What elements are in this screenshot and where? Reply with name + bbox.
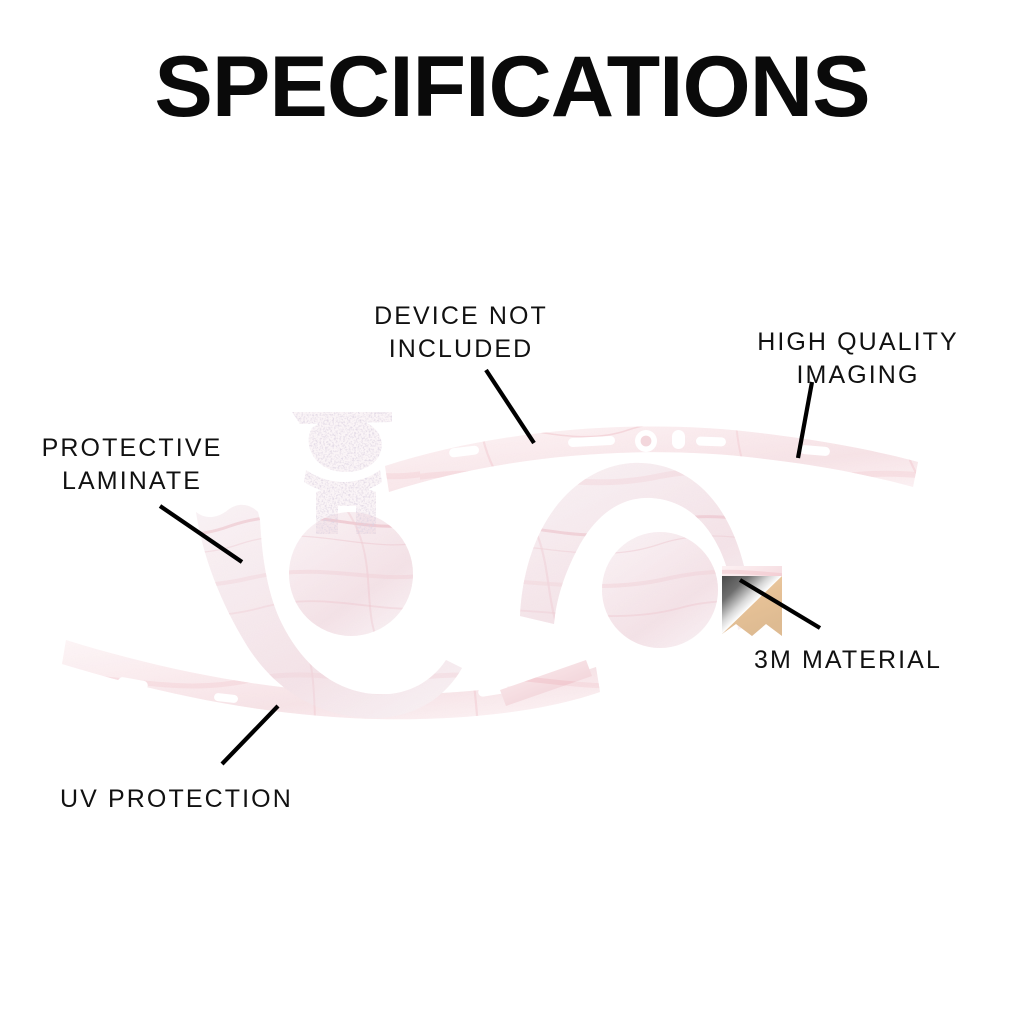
part-peel-corner-3m [718, 560, 788, 644]
part-small-strip [494, 650, 604, 714]
leader-line-high-quality-imaging [798, 382, 812, 458]
part-headband-strip-top [370, 410, 940, 510]
part-earcup-circle-right [598, 528, 726, 656]
leader-line-protective-laminate [160, 506, 242, 562]
leader-line-uv-protection [222, 706, 278, 764]
part-earcup-circle-left [285, 508, 420, 643]
callout-protective-laminate: PROTECTIVE LAMINATE [10, 432, 254, 498]
part-earcup-arc-right [505, 450, 775, 650]
part-earcup-arc-left [180, 490, 480, 740]
part-glitter-accent-bottom [608, 618, 728, 758]
laminate-foil [722, 576, 782, 634]
callout-3m-material: 3M MATERIAL [754, 644, 1004, 677]
adhesive-backing [722, 576, 782, 636]
cutouts-top-strip [449, 430, 831, 458]
product-artwork [0, 0, 1024, 1024]
part-headband-strip-bottom [50, 630, 620, 730]
leader-line-device-not-included [486, 370, 534, 443]
cutouts-bottom-strip [117, 676, 508, 711]
callout-device-not-included: DEVICE NOT INCLUDED [336, 300, 586, 366]
page-title: SPECIFICATIONS [0, 44, 1024, 130]
leader-line-3m-material [740, 580, 820, 628]
callout-uv-protection: UV PROTECTION [60, 783, 360, 816]
callout-high-quality-imaging: HIGH QUALITY IMAGING [730, 326, 986, 392]
specifications-infographic: SPECIFICATIONS [0, 0, 1024, 1024]
part-glitter-accent-top [285, 405, 400, 540]
